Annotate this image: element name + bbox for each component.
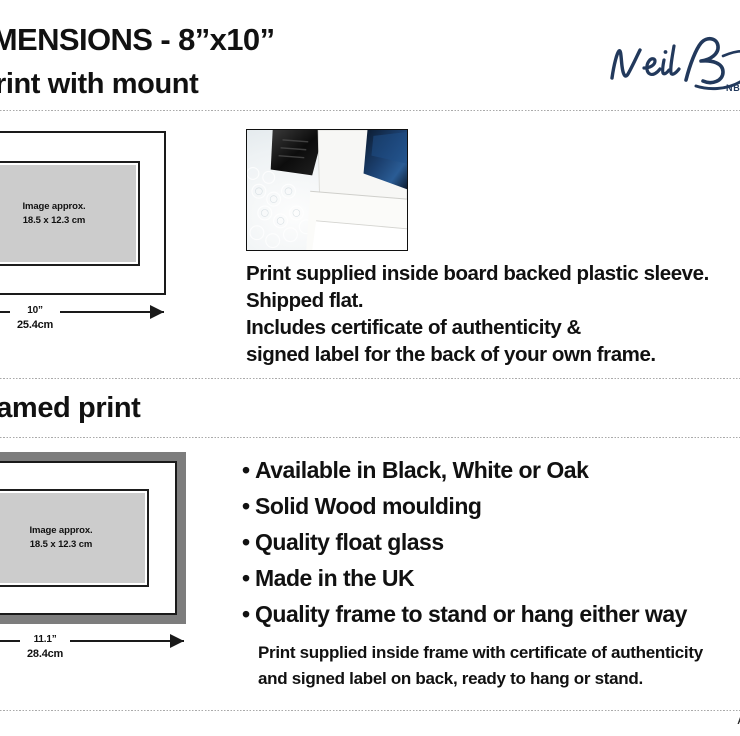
dimension-arrowhead-icon	[170, 634, 184, 648]
mounted-print-photo	[246, 129, 408, 251]
logo-initials-text: NB	[726, 83, 740, 93]
mount-description: Print supplied inside board backed plast…	[246, 260, 740, 368]
mount-description-line-4: signed label for the back of your own fr…	[246, 341, 740, 368]
frame-image-area: Image approx. 18.5 x 12.3 cm	[0, 493, 145, 583]
frame-matte: Image approx. 18.5 x 12.3 cm	[0, 463, 175, 613]
frame-image-label-line2: 18.5 x 12.3 cm	[30, 538, 93, 552]
frame-feature-3: Quality float glass	[255, 529, 444, 555]
framed-section-title: Framed print	[0, 392, 140, 425]
frame-width-dimension: 11.1” 28.4cm	[0, 632, 184, 666]
frame-description-line-1: Print supplied inside frame with certifi…	[258, 640, 740, 666]
list-item: •Solid Wood moulding	[242, 488, 740, 524]
frame-feature-4: Made in the UK	[255, 565, 414, 591]
framed-diagram: Image approx. 18.5 x 12.3 cm	[0, 452, 186, 624]
mount-image-label-line2: 18.5 x 12.3 cm	[23, 214, 86, 228]
brand-signature-logo: NB	[604, 34, 740, 98]
frame-feature-1: Available in Black, White or Oak	[255, 457, 588, 483]
frame-inner-border: Image approx. 18.5 x 12.3 cm	[0, 489, 149, 587]
frame-description-line-2: and signed label on back, ready to hang …	[258, 666, 740, 692]
bullet-icon: •	[242, 596, 255, 632]
frame-width-cm: 28.4cm	[27, 647, 63, 662]
mount-description-line-3: Includes certificate of authenticity &	[246, 314, 740, 341]
mount-image-label-line1: Image approx.	[22, 200, 85, 214]
bullet-icon: •	[242, 488, 255, 524]
mount-image-area: Image approx. 18.5 x 12.3 cm	[0, 165, 136, 262]
mount-width-cm: 25.4cm	[17, 318, 53, 333]
divider-top	[0, 110, 740, 111]
list-item: •Quality float glass	[242, 524, 740, 560]
divider-middle-upper	[0, 378, 740, 379]
dimension-arrowhead-icon	[150, 305, 164, 319]
mount-width-inches: 10”	[17, 303, 53, 318]
mount-description-line-2: Shipped flat.	[246, 287, 740, 314]
bullet-icon: •	[242, 560, 255, 596]
page-subtitle: Print with mount	[0, 68, 198, 101]
divider-middle-lower	[0, 437, 740, 438]
list-item: •Available in Black, White or Oak	[242, 452, 740, 488]
frame-feature-2: Solid Wood moulding	[255, 493, 481, 519]
frame-feature-5: Quality frame to stand or hang either wa…	[255, 601, 687, 627]
frame-width-inches: 11.1”	[27, 632, 63, 647]
list-item: •Made in the UK	[242, 560, 740, 596]
frame-image-label-line1: Image approx.	[29, 524, 92, 538]
frame-description: Print supplied inside frame with certifi…	[258, 640, 740, 692]
mount-diagram: Image approx. 18.5 x 12.3 cm	[0, 131, 166, 295]
divider-bottom	[0, 710, 740, 711]
bullet-icon: •	[242, 524, 255, 560]
page-title: DIMENSIONS - 8”x10”	[0, 22, 274, 58]
mount-width-dimension: 10” 25.4cm	[0, 303, 164, 337]
mount-description-line-1: Print supplied inside board backed plast…	[246, 260, 740, 287]
frame-feature-list: •Available in Black, White or Oak •Solid…	[242, 452, 740, 632]
mount-inner-border: Image approx. 18.5 x 12.3 cm	[0, 161, 140, 266]
bullet-icon: •	[242, 452, 255, 488]
list-item: •Quality frame to stand or hang either w…	[242, 596, 740, 632]
